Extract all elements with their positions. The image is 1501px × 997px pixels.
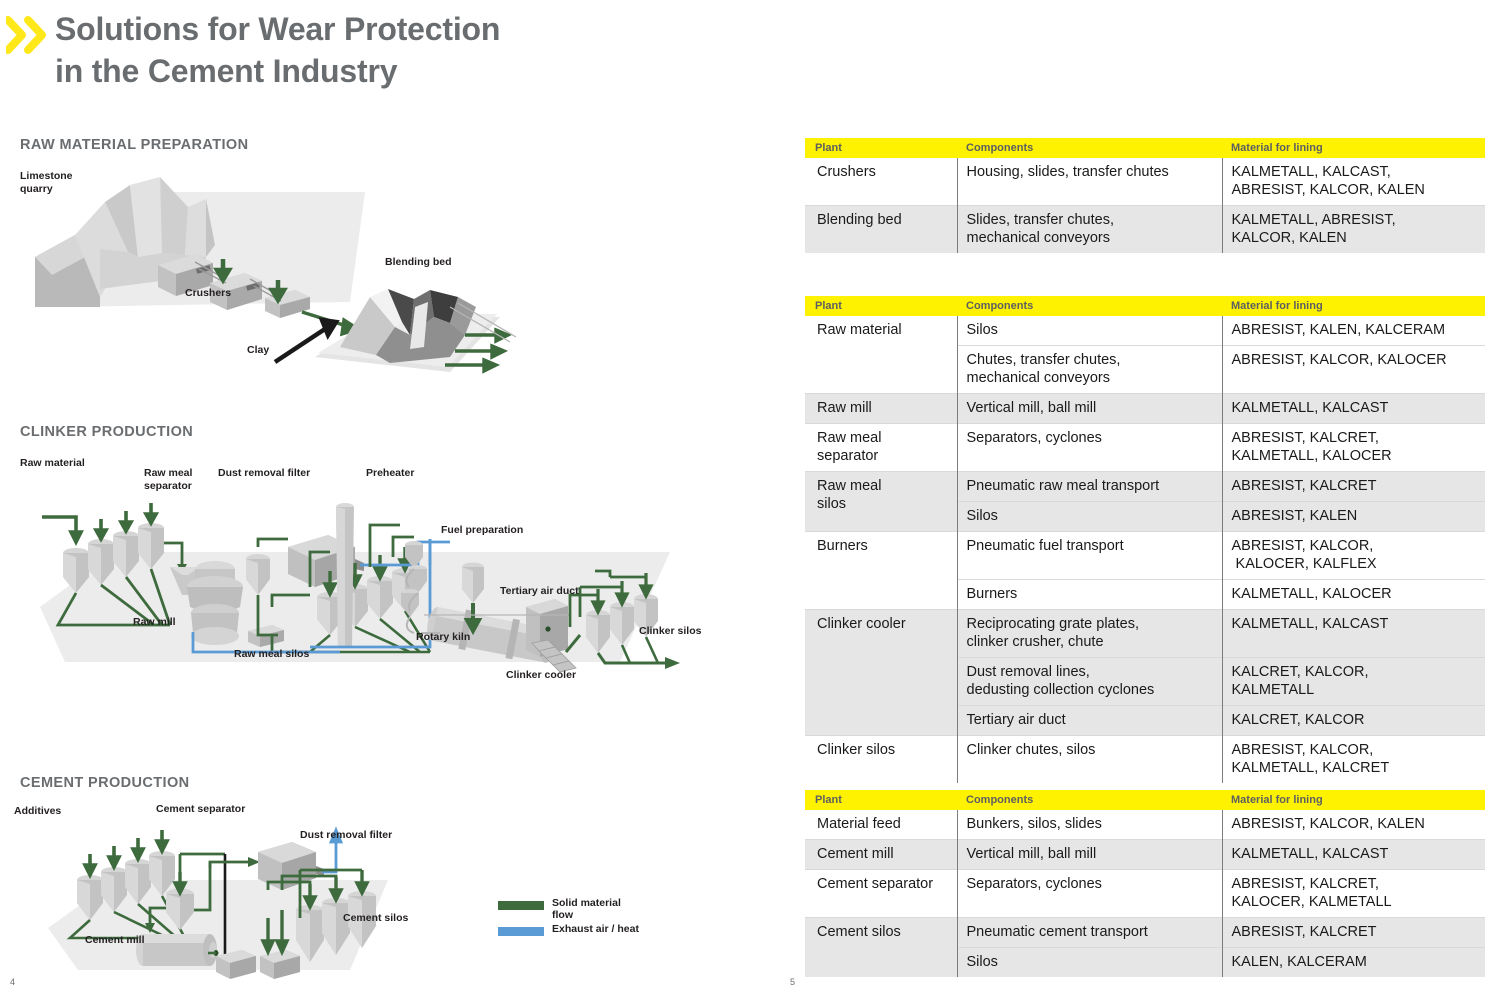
label-clay: Clay: [247, 344, 269, 357]
diagram-clinker-production: [10, 447, 710, 697]
raw-material-preparation-table: Plant Components Material for lining Cru…: [805, 138, 1485, 253]
cell-components: Silos: [957, 502, 1222, 532]
page-number-left: 4: [10, 977, 15, 987]
cell-material: ABRESIST, KALCRET, KALOCER, KALMETALL: [1222, 870, 1485, 918]
clinker-production-table: Plant Components Material for lining Raw…: [805, 296, 1485, 783]
legend-swatch-solid-material-flow: [498, 901, 544, 910]
label-raw-meal-separator: Raw meal separator: [144, 467, 192, 492]
legend-label-solid-material-flow: Solid material flow: [552, 898, 621, 921]
label-dust-removal-filter-cement: Dust removal filter: [300, 829, 392, 842]
cell-material: KALCRET, KALCOR: [1222, 706, 1485, 736]
cell-components: Pneumatic raw meal transport: [957, 472, 1222, 502]
table-header-plant: Plant: [805, 790, 957, 810]
cell-material: KALMETALL, KALCAST, ABRESIST, KALCOR, KA…: [1222, 158, 1485, 206]
page-title: Solutions for Wear Protection in the Cem…: [55, 8, 755, 92]
label-fuel-preparation: Fuel preparation: [441, 524, 523, 537]
cell-components: Slides, transfer chutes, mechanical conv…: [957, 206, 1222, 254]
table-row: Burners Pneumatic fuel transport ABRESIS…: [805, 532, 1485, 580]
cell-material: KALMETALL, KALCAST: [1222, 840, 1485, 870]
cell-components: Vertical mill, ball mill: [957, 394, 1222, 424]
page-header: Solutions for Wear Protection in the Cem…: [0, 0, 760, 112]
cell-material: KALMETALL, KALOCER: [1222, 580, 1485, 610]
table-row: Crushers Housing, slides, transfer chute…: [805, 158, 1485, 206]
cell-material: ABRESIST, KALCOR, KALOCER, KALFLEX: [1222, 532, 1485, 580]
page-number-right: 5: [790, 977, 795, 987]
legend-label-exhaust-air-heat: Exhaust air / heat: [552, 924, 639, 936]
section-heading-raw-material-preparation: RAW MATERIAL PREPARATION: [20, 137, 248, 153]
table-row: Cement separator Separators, cyclones AB…: [805, 870, 1485, 918]
cell-components: Pneumatic cement transport: [957, 918, 1222, 948]
cell-plant: Material feed: [805, 810, 957, 840]
table-header-components: Components: [957, 296, 1222, 316]
label-preheater: Preheater: [366, 467, 414, 480]
label-raw-material: Raw material: [20, 457, 85, 470]
label-raw-meal-silos: Raw meal silos: [234, 648, 309, 661]
table-header-components: Components: [957, 790, 1222, 810]
cement-production-table: Plant Components Material for lining Mat…: [805, 790, 1485, 977]
diagram-raw-material-preparation: [10, 157, 530, 387]
table-header-components: Components: [957, 138, 1222, 158]
cell-plant: Blending bed: [805, 206, 957, 254]
table-row: Cement mill Vertical mill, ball mill KAL…: [805, 840, 1485, 870]
cell-plant: Raw meal separator: [805, 424, 957, 472]
label-rotary-kiln: Rotary kiln: [416, 631, 470, 644]
cell-components: Separators, cyclones: [957, 870, 1222, 918]
cell-components: Chutes, transfer chutes, mechanical conv…: [957, 346, 1222, 394]
cell-plant: Raw meal silos: [805, 472, 957, 532]
cell-plant: Cement silos: [805, 918, 957, 978]
cell-material: ABRESIST, KALCRET, KALMETALL, KALOCER: [1222, 424, 1485, 472]
cell-material: ABRESIST, KALEN: [1222, 502, 1485, 532]
cell-components: Vertical mill, ball mill: [957, 840, 1222, 870]
label-additives: Additives: [14, 805, 61, 818]
cell-components: Dust removal lines, dedusting collection…: [957, 658, 1222, 706]
label-blending-bed: Blending bed: [385, 256, 452, 269]
table-row: Blending bed Slides, transfer chutes, me…: [805, 206, 1485, 254]
table-row: Raw mill Vertical mill, ball mill KALMET…: [805, 394, 1485, 424]
cell-components: Silos: [957, 948, 1222, 978]
cell-material: ABRESIST, KALCRET: [1222, 472, 1485, 502]
cell-plant: Cement separator: [805, 870, 957, 918]
cell-plant: Clinker cooler: [805, 610, 957, 736]
cell-components: Burners: [957, 580, 1222, 610]
table-header-plant: Plant: [805, 138, 957, 158]
table-header-row: Plant Components Material for lining: [805, 296, 1485, 316]
cell-material: KALCRET, KALCOR, KALMETALL: [1222, 658, 1485, 706]
label-limestone-quarry: Limestone quarry: [20, 170, 73, 195]
cell-plant: Burners: [805, 532, 957, 610]
label-raw-mill: Raw mill: [133, 616, 176, 629]
legend-item-solid-material-flow: Solid material flow: [498, 898, 698, 921]
cell-plant: Raw mill: [805, 394, 957, 424]
cell-components: Tertiary air duct: [957, 706, 1222, 736]
cell-plant: Raw material: [805, 316, 957, 394]
page-title-line-2: in the Cement Industry: [55, 50, 755, 92]
label-crushers: Crushers: [185, 287, 231, 300]
cell-material: ABRESIST, KALEN, KALCERAM: [1222, 316, 1485, 346]
cell-material: KALMETALL, KALCAST: [1222, 394, 1485, 424]
cell-components: Housing, slides, transfer chutes: [957, 158, 1222, 206]
diagrams-column: RAW MATERIAL PREPARATION: [0, 112, 790, 997]
table-header-material: Material for lining: [1222, 296, 1485, 316]
cell-components: Silos: [957, 316, 1222, 346]
table-row: Clinker cooler Reciprocating grate plate…: [805, 610, 1485, 658]
table-header-plant: Plant: [805, 296, 957, 316]
cell-components: Bunkers, silos, slides: [957, 810, 1222, 840]
cell-plant: Clinker silos: [805, 736, 957, 784]
table-header-row: Plant Components Material for lining: [805, 790, 1485, 810]
cell-material: ABRESIST, KALCOR, KALOCER: [1222, 346, 1485, 394]
diagram-cement-production: [20, 798, 440, 997]
label-dust-removal-filter: Dust removal filter: [218, 467, 310, 480]
cell-material: KALEN, KALCERAM: [1222, 948, 1485, 978]
table-header-row: Plant Components Material for lining: [805, 138, 1485, 158]
diagram-legend: Solid material flow Exhaust air / heat: [498, 898, 698, 939]
cell-material: KALMETALL, ABRESIST, KALCOR, KALEN: [1222, 206, 1485, 254]
double-chevron-right-icon: [6, 16, 52, 56]
label-cement-mill: Cement mill: [85, 934, 145, 947]
label-clinker-silos: Clinker silos: [639, 625, 701, 638]
section-heading-cement-production: CEMENT PRODUCTION: [20, 775, 190, 791]
table-row: Clinker silos Clinker chutes, silos ABRE…: [805, 736, 1485, 784]
cell-components: Separators, cyclones: [957, 424, 1222, 472]
cell-components: Pneumatic fuel transport: [957, 532, 1222, 580]
cell-plant: Cement mill: [805, 840, 957, 870]
table-row: Material feed Bunkers, silos, slides ABR…: [805, 810, 1485, 840]
legend-swatch-exhaust-air-heat: [498, 927, 544, 936]
brochure-page: Solutions for Wear Protection in the Cem…: [0, 0, 1501, 997]
table-header-material: Material for lining: [1222, 790, 1485, 810]
table-row: Raw meal separator Separators, cyclones …: [805, 424, 1485, 472]
page-title-line-1: Solutions for Wear Protection: [55, 8, 755, 50]
cell-material: KALMETALL, KALCAST: [1222, 610, 1485, 658]
label-cement-separator: Cement separator: [156, 803, 245, 816]
cell-plant: Crushers: [805, 158, 957, 206]
legend-item-exhaust-air-heat: Exhaust air / heat: [498, 924, 698, 936]
cell-material: ABRESIST, KALCOR, KALMETALL, KALCRET: [1222, 736, 1485, 784]
table-row: Cement silos Pneumatic cement transport …: [805, 918, 1485, 948]
table-row: Raw meal silos Pneumatic raw meal transp…: [805, 472, 1485, 502]
table-row: Raw material Silos ABRESIST, KALEN, KALC…: [805, 316, 1485, 346]
label-cement-silos: Cement silos: [343, 912, 408, 925]
table-header-material: Material for lining: [1222, 138, 1485, 158]
cell-components: Clinker chutes, silos: [957, 736, 1222, 784]
label-tertiary-air-duct: Tertiary air duct: [500, 585, 579, 598]
section-heading-clinker-production: CLINKER PRODUCTION: [20, 424, 193, 440]
cell-components: Reciprocating grate plates, clinker crus…: [957, 610, 1222, 658]
cell-material: ABRESIST, KALCOR, KALEN: [1222, 810, 1485, 840]
cell-material: ABRESIST, KALCRET: [1222, 918, 1485, 948]
label-clinker-cooler: Clinker cooler: [506, 669, 576, 682]
